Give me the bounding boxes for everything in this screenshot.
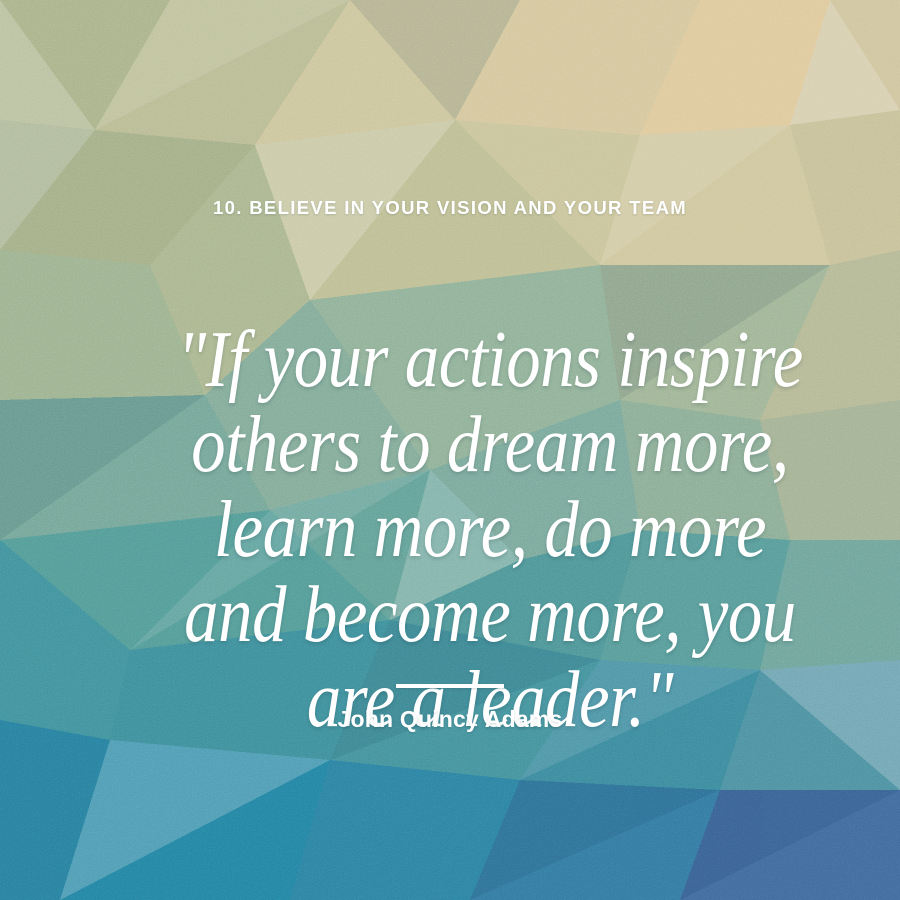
section-heading: 10. BELIEVE IN YOUR VISION AND YOUR TEAM (0, 196, 900, 220)
divider-rule (396, 684, 504, 688)
card-content: 10. BELIEVE IN YOUR VISION AND YOUR TEAM… (0, 0, 900, 900)
quote-line: others to dream more, (103, 403, 877, 488)
quote-line: learn more, do more (103, 488, 877, 573)
quote-text: "If your actions inspire others to dream… (40, 318, 900, 743)
quote-line: "If your actions inspire (103, 318, 877, 403)
quote-card: 10. BELIEVE IN YOUR VISION AND YOUR TEAM… (0, 0, 900, 900)
quote-attribution: John Quincy Adams (0, 705, 900, 733)
quote-line: and become more, you (103, 573, 877, 658)
